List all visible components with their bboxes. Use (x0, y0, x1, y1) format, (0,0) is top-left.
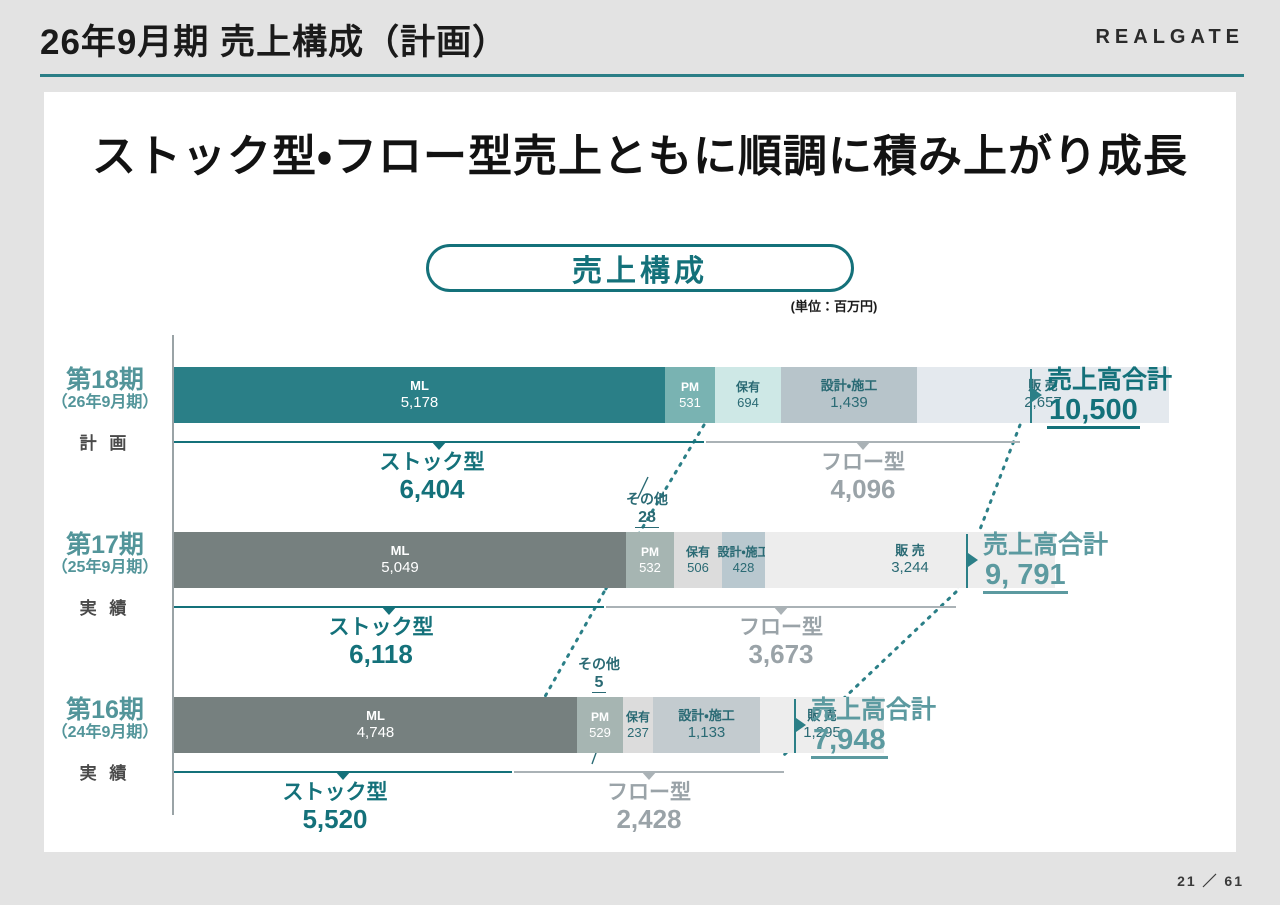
page-separator: ／ (1203, 873, 1219, 889)
stacked-bar-period-17: ML 5,049 PM 532 保有 506 設計・施工 428 (174, 532, 1055, 588)
flow-marker-period-18 (855, 441, 871, 450)
sales-composition-chart: 第18期 （26年9月期） 計 画 ML 5,178 PM 531 保有 (44, 92, 1236, 852)
flow-group-period-17: フロー型 3,673 (696, 616, 866, 670)
bar-segment-design-construction: 設計・施工 428 (722, 532, 765, 588)
bar-segment-design-construction: 設計・施工 1,439 (781, 367, 917, 423)
bar-segment-ml: ML 4,748 (174, 697, 577, 753)
slide-header: 26年9月期 売上構成（計画） REALGATE (0, 0, 1280, 78)
total-period-18: 売上高合計 10,500 (1047, 367, 1172, 429)
total-arrow-period-17 (968, 553, 978, 567)
page-total: 61 (1224, 873, 1244, 889)
period-name: 第18期 (44, 367, 166, 393)
stock-group-period-17: ストック型 6,118 (296, 616, 466, 670)
brand-logo: REALGATE (1095, 26, 1244, 49)
bar-segment-pm: PM 529 (577, 697, 623, 753)
other-callout-period-17: その他 5 (544, 656, 654, 693)
page-footer: 21 ／ 61 (1177, 871, 1244, 891)
bar-segment-owned: 保有 506 (674, 532, 722, 588)
row-label-period-16: 第16期 （24年9月期） (44, 697, 166, 743)
bar-segment-ml: ML 5,178 (174, 367, 665, 423)
page-title: 26年9月期 売上構成（計画） (40, 14, 508, 65)
flow-group-period-16: フロー型 2,428 (564, 781, 734, 835)
total-arrow-period-18 (1032, 388, 1042, 402)
bar-segment-owned: 保有 694 (715, 367, 781, 423)
stock-marker-period-18 (431, 441, 447, 450)
period-sub: （24年9月期） (44, 723, 166, 743)
other-callout-period-18: その他 28 (592, 491, 702, 528)
flow-marker-period-17 (773, 606, 789, 615)
bar-segment-owned: 保有 237 (623, 697, 653, 753)
slide: 26年9月期 売上構成（計画） REALGATE ストック型・フロー型売上ともに… (0, 0, 1280, 905)
period-kind: 実 績 (44, 759, 166, 784)
period-kind: 実 績 (44, 594, 166, 619)
flow-group-period-18: フロー型 4,096 (770, 451, 956, 505)
bar-segment-pm: PM 532 (626, 532, 674, 588)
period-sub: （26年9月期） (44, 393, 166, 413)
stock-group-period-16: ストック型 5,520 (250, 781, 420, 835)
content-card: ストック型・フロー型売上ともに順調に積み上がり成長 売上構成 (単位：百万円) … (44, 92, 1236, 852)
stock-group-period-18: ストック型 6,404 (339, 451, 525, 505)
stacked-bar-period-18: ML 5,178 PM 531 保有 694 設計・施工 1,439 (174, 367, 1169, 423)
total-period-17: 売上高合計 9, 791 (983, 532, 1108, 594)
page-number: 21 (1177, 873, 1197, 889)
total-period-16: 売上高合計 7,948 (811, 697, 936, 759)
row-label-period-17: 第17期 （25年9月期） (44, 532, 166, 578)
bar-segment-ml: ML 5,049 (174, 532, 626, 588)
flow-marker-period-16 (641, 771, 657, 780)
period-name: 第17期 (44, 532, 166, 558)
period-name: 第16期 (44, 697, 166, 723)
header-divider (40, 74, 1244, 77)
stacked-bar-period-16: ML 4,748 PM 529 保有 237 設計・施工 1,133 (174, 697, 884, 753)
stock-marker-period-17 (381, 606, 397, 615)
row-label-period-18: 第18期 （26年9月期） (44, 367, 166, 413)
period-sub: （25年9月期） (44, 558, 166, 578)
bar-segment-design-construction: 設計・施工 1,133 (653, 697, 760, 753)
bar-segment-pm: PM 531 (665, 367, 715, 423)
period-kind: 計 画 (44, 429, 166, 454)
total-arrow-period-16 (796, 718, 806, 732)
stock-marker-period-16 (335, 771, 351, 780)
